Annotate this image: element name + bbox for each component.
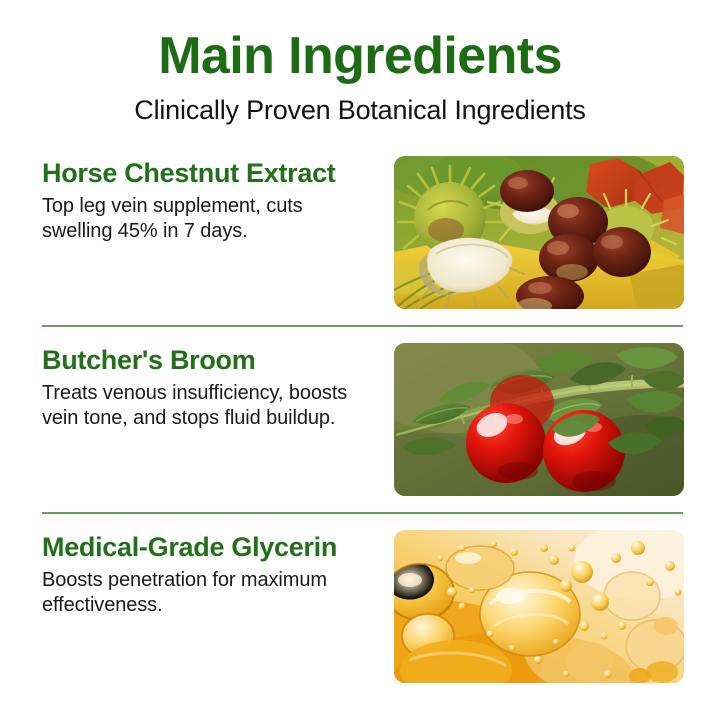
- ingredient-text-block: Horse Chestnut Extract Top leg vein supp…: [42, 156, 372, 244]
- ingredient-name: Medical-Grade Glycerin: [42, 532, 372, 563]
- ingredient-description: Treats venous insufficiency, boosts vein…: [42, 381, 372, 431]
- ingredient-item-glycerin: Medical-Grade Glycerin Boosts penetratio…: [0, 530, 720, 683]
- horse-chestnut-photo: [394, 156, 684, 309]
- page-title: Main Ingredients: [0, 26, 720, 86]
- ingredient-name: Horse Chestnut Extract: [42, 158, 372, 189]
- ingredient-description: Top leg vein supplement, cuts swelling 4…: [42, 194, 372, 244]
- ingredient-text-block: Medical-Grade Glycerin Boosts penetratio…: [42, 530, 372, 618]
- section-divider-1: [42, 325, 683, 327]
- butchers-broom-photo: [394, 343, 684, 496]
- ingredient-list: Horse Chestnut Extract Top leg vein supp…: [0, 156, 720, 683]
- ingredient-description: Boosts penetration for maximum effective…: [42, 568, 372, 618]
- ingredient-item-horse-chestnut: Horse Chestnut Extract Top leg vein supp…: [0, 156, 720, 309]
- ingredient-name: Butcher's Broom: [42, 345, 372, 376]
- header-spacer: [0, 127, 720, 140]
- ingredients-infographic: Main Ingredients Clinically Proven Botan…: [0, 0, 720, 720]
- header: Main Ingredients Clinically Proven Botan…: [0, 0, 720, 127]
- ingredient-item-butchers-broom: Butcher's Broom Treats venous insufficie…: [0, 343, 720, 496]
- ingredient-text-block: Butcher's Broom Treats venous insufficie…: [42, 343, 372, 431]
- glycerin-photo: [394, 530, 684, 683]
- page-subtitle: Clinically Proven Botanical Ingredients: [0, 94, 720, 127]
- section-divider-2: [42, 512, 683, 514]
